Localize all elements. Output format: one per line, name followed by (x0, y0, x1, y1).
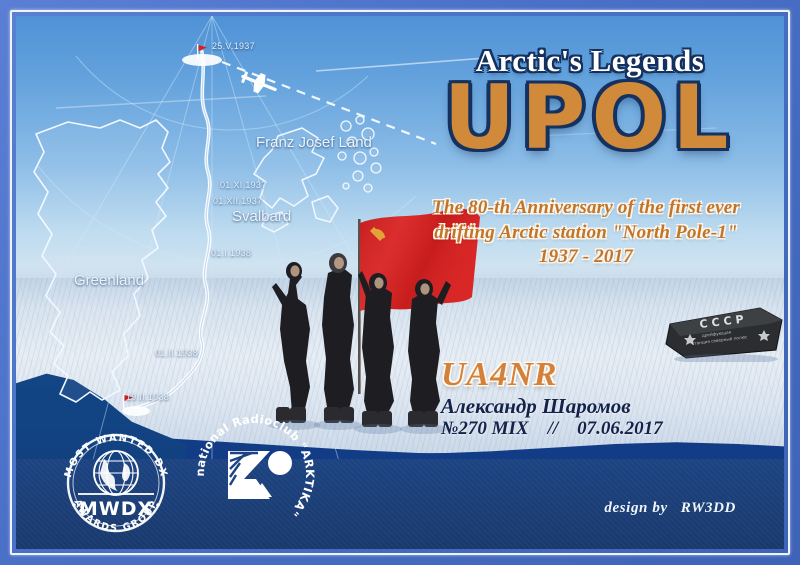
mwdx-logo: MOST WANTED DX AWARDS GROUP MWDX (58, 425, 174, 537)
iceberg-icon (228, 451, 292, 499)
explorer-figures (272, 253, 451, 427)
card-inner-artwork: Greenland Svalbard Franz Josef Land 25.V… (16, 16, 784, 549)
operator-name: Александр Шаромов (441, 394, 631, 419)
mwdx-top-text: MOST WANTED DX (63, 433, 169, 479)
subtitle-line-1: The 80-th Anniversary of the first ever (366, 196, 784, 220)
qsl-card: Greenland Svalbard Franz Josef Land 25.V… (0, 0, 800, 565)
sun-icon (268, 451, 292, 475)
subtitle-line-3: 1937 - 2017 (366, 245, 784, 269)
qso-details: №270 MIX // 07.06.2017 (441, 418, 663, 440)
subtitle-line-2: drifting Arctic station "North Pole-1" (366, 221, 784, 245)
design-credit: design by RW3DD (604, 500, 736, 517)
start-flag-icon (196, 44, 210, 60)
globe-icon (94, 451, 138, 495)
expedition-callsign: UPOL (434, 74, 744, 162)
arktika-logo: International Radioclub "ARKTIKA" (194, 413, 316, 535)
end-flag-icon (122, 394, 136, 410)
cccp-monument: CCCP дрейфующая станция северный полюс (664, 304, 784, 362)
mwdx-center-text: MWDX (79, 498, 153, 520)
operator-callsign: UA4NR (441, 356, 557, 394)
